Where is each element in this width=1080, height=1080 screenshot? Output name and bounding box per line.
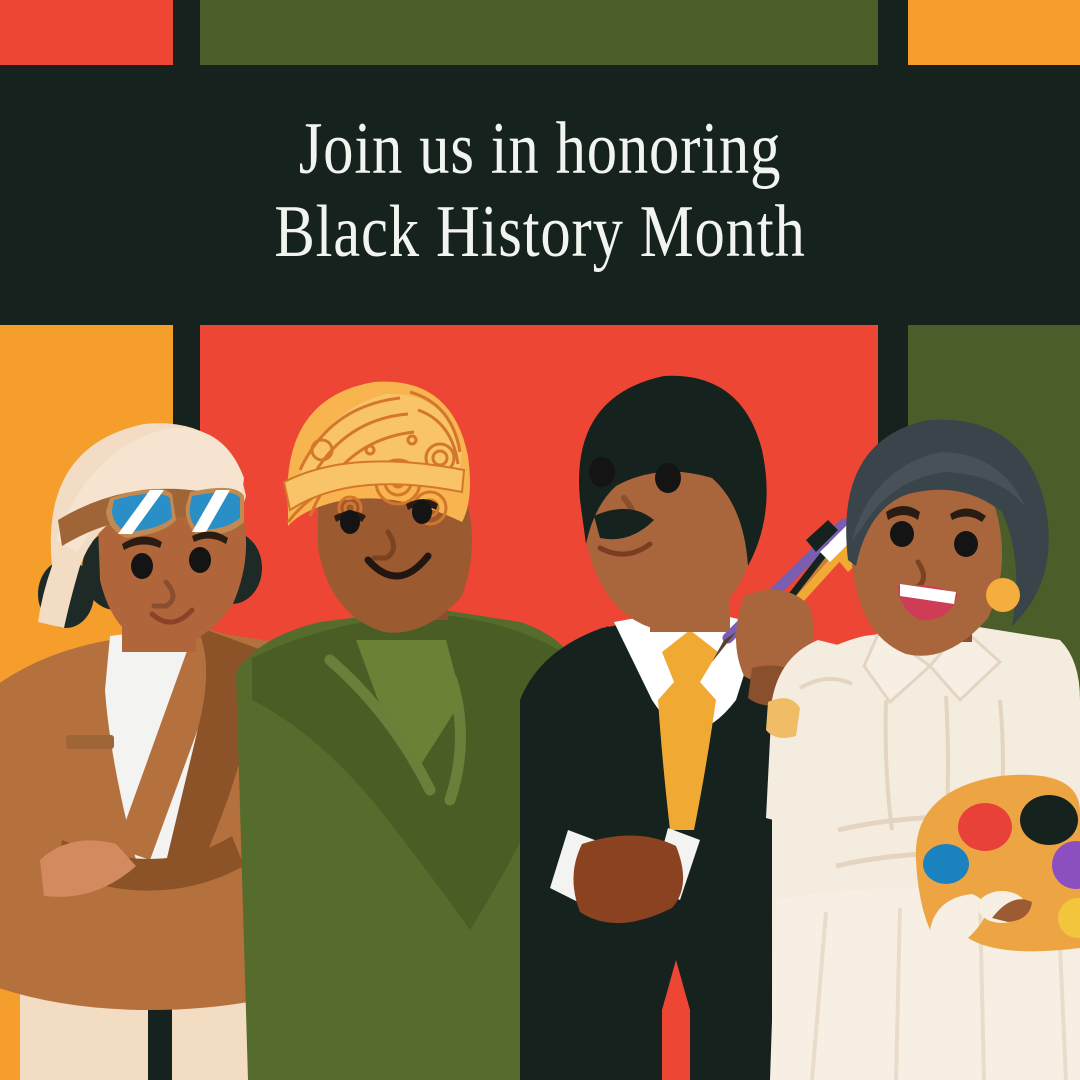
aviator-eye-right: [189, 547, 211, 573]
woman-eye-right: [412, 500, 432, 524]
man-eye-right: [655, 463, 681, 493]
aviator-eye-left: [131, 553, 153, 579]
figure-artist: [766, 420, 1080, 1080]
black-history-month-poster: Join us in honoring Black History Month: [0, 0, 1080, 1080]
palette-paint-red: [958, 803, 1012, 851]
artist-eye-right: [954, 531, 978, 557]
palette-paint-blue: [923, 844, 969, 884]
aviator-pocket-flap: [66, 735, 114, 749]
artist-sleeve-cuff-accent: [766, 698, 800, 738]
artist-earring: [986, 578, 1020, 612]
artist-eye-left: [890, 521, 914, 547]
palette-paint-black: [1020, 795, 1078, 845]
man-clasped-hands: [573, 835, 683, 923]
woman-eye-left: [340, 510, 360, 534]
man-eye-left: [589, 457, 615, 487]
illustration-group: [0, 0, 1080, 1080]
